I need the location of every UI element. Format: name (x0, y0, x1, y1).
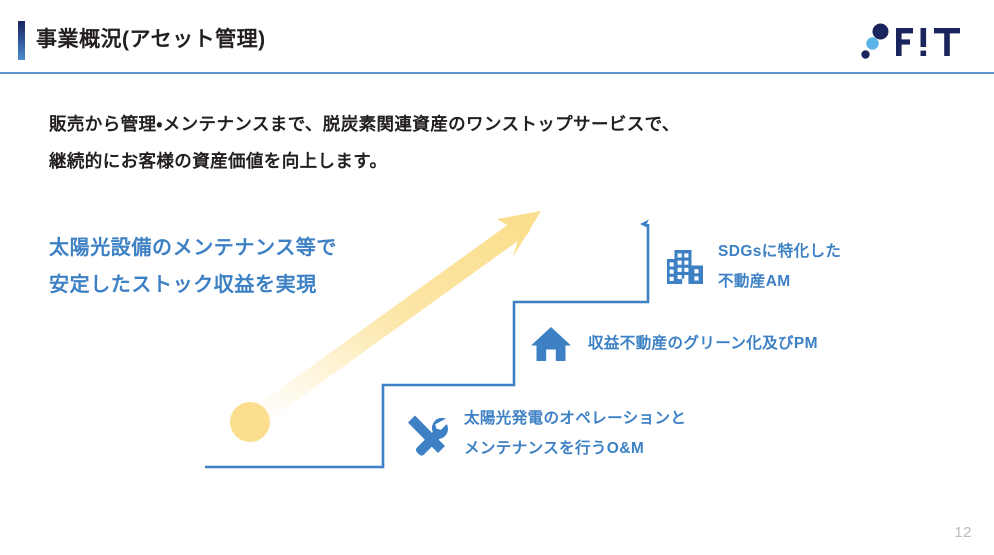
page-number: 12 (954, 524, 972, 541)
step-sdgs-line-2: 不動産AM (718, 267, 841, 297)
home-icon (530, 325, 572, 363)
logo-dot-small (861, 50, 869, 58)
step-sdgs-text: SDGsに特化した 不動産AM (718, 237, 841, 297)
lead-line-2: 継続的にお客様の資産価値を向上します。 (49, 143, 879, 180)
header-divider (0, 72, 994, 74)
step-om-text: 太陽光発電のオペレーションと メンテナンスを行うO&M (464, 404, 686, 464)
logo-dot-medium (866, 37, 878, 49)
step-row-sdgs: SDGsに特化した 不動産AM (666, 237, 841, 297)
logo-dots (861, 24, 888, 59)
step-row-pm: 収益不動産のグリーン化及びPM (530, 325, 818, 363)
lead-line-1: 販売から管理・メンテナンスまで、脱炭素関連資産のワンストップサービスで、 (49, 106, 879, 143)
step-row-om: 太陽光発電のオペレーションと メンテナンスを行うO&M (404, 404, 686, 464)
logo-wordmark (896, 28, 960, 56)
step-om-line-1: 太陽光発電のオペレーションと (464, 404, 686, 434)
growth-origin-dot (230, 402, 270, 442)
fit-logo (856, 22, 972, 62)
title-accent-bar (18, 21, 25, 60)
building-icon (666, 248, 704, 286)
highlight-headline: 太陽光設備のメンテナンス等で 安定したストック収益を実現 (49, 230, 449, 304)
page-title: 事業概況(アセット管理) (36, 23, 266, 57)
step-sdgs-line-1: SDGsに特化した (718, 237, 841, 267)
logo-dot-large (873, 24, 889, 40)
headline-line-1: 太陽光設備のメンテナンス等で (49, 230, 449, 267)
headline-line-2: 安定したストック収益を実現 (49, 267, 449, 304)
lead-paragraph: 販売から管理・メンテナンスまで、脱炭素関連資産のワンストップサービスで、 継続的… (49, 106, 879, 180)
step-pm-text: 収益不動産のグリーン化及びPM (588, 329, 818, 359)
step-pm-line-1: 収益不動産のグリーン化及びPM (588, 329, 818, 359)
tools-icon (404, 412, 452, 456)
slide-header: 事業概況(アセット管理) (0, 0, 994, 74)
slide-root: 事業概況(アセット管理) (0, 0, 994, 555)
step-om-line-2: メンテナンスを行うO&M (464, 434, 686, 464)
